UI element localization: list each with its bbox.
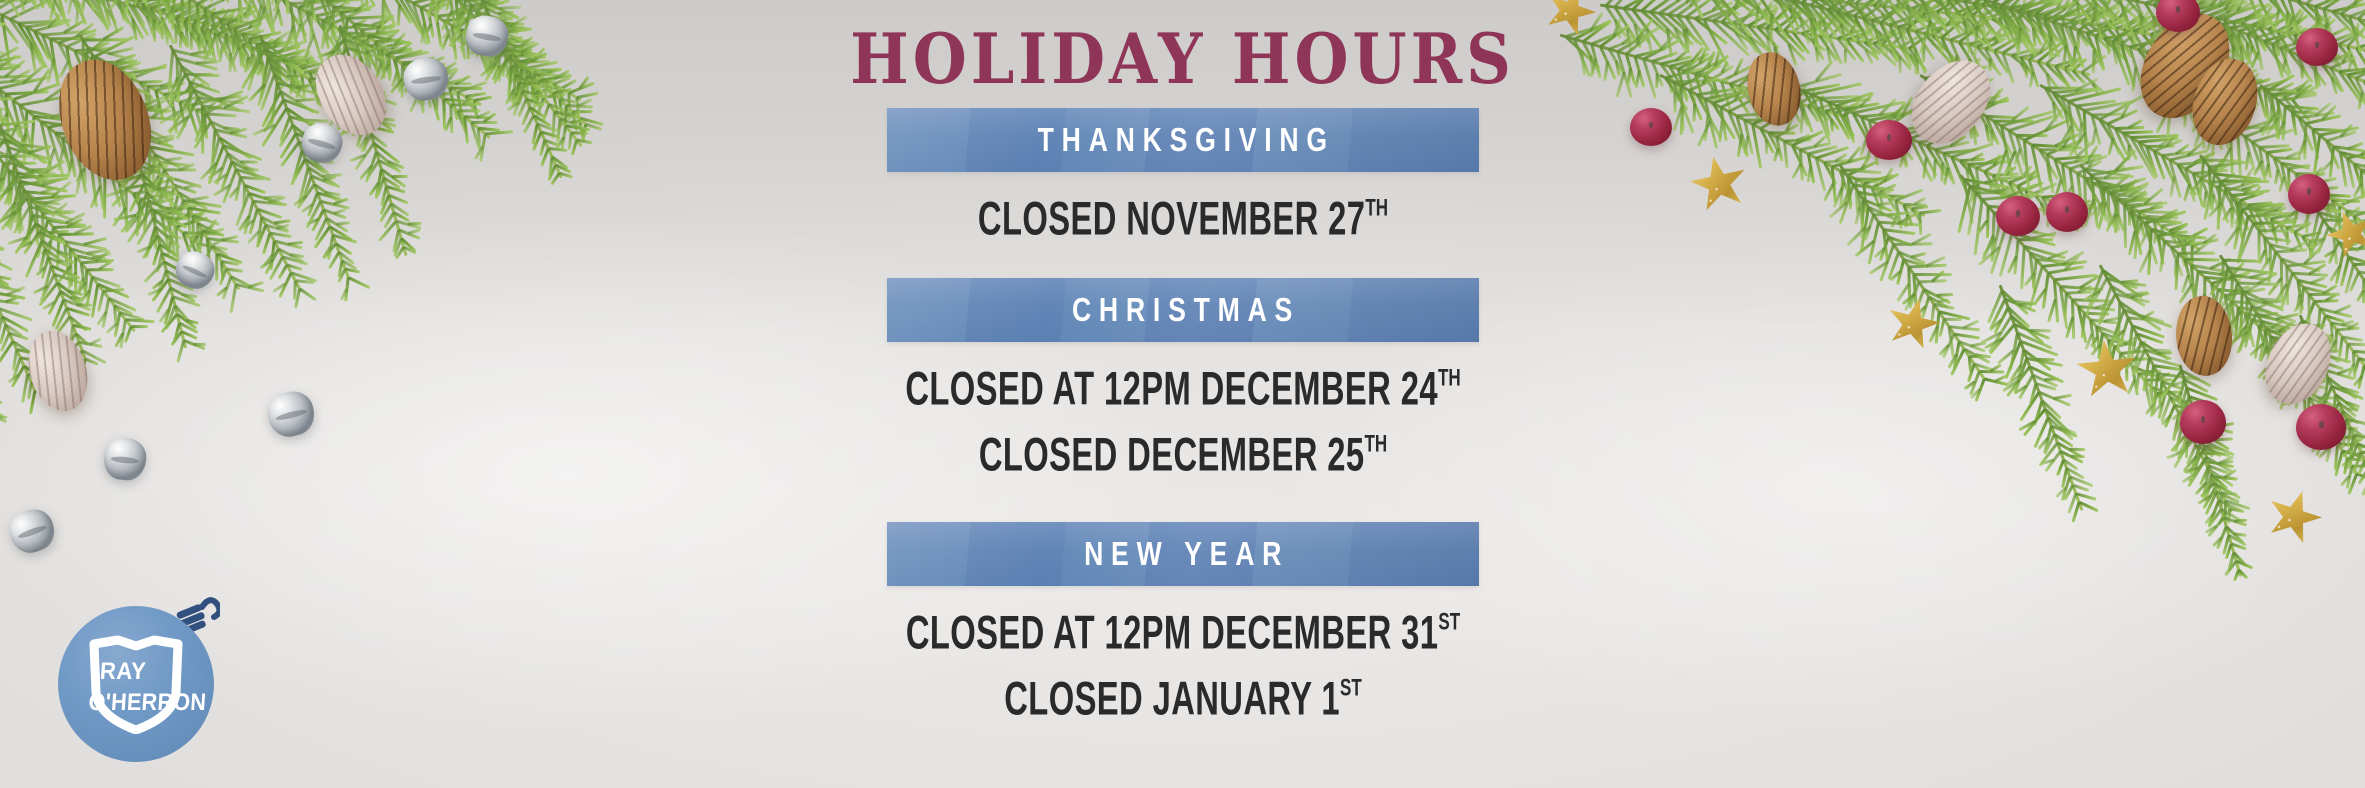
band-label-thanksgiving: THANKSGIVING [1030,121,1335,160]
section-new-year: NEW YEAR CLOSED AT 12PM DECEMBER 31ST CL… [803,476,1563,720]
berry-icon [2296,404,2346,450]
hours-line: CLOSED AT 12PM DECEMBER 31ST [886,610,1479,657]
ray-oherron-logo[interactable]: RAY O'HERRON [58,598,222,762]
band-label-christmas: CHRISTMAS [1065,291,1301,330]
ordinal-suffix: TH [1364,429,1387,457]
holiday-hours-content: HOLIDAY HOURS THANKSGIVING CLOSED NOVEMB… [803,0,1563,720]
hours-line: CLOSED JANUARY 1ST [886,676,1479,723]
berry-icon [2046,192,2088,232]
berry-icon [1866,120,1912,160]
berry-icon [1630,108,1672,146]
band-thanksgiving: THANKSGIVING [887,108,1479,172]
hours-line-text: CLOSED AT 12PM DECEMBER 24 [905,362,1438,415]
band-christmas: CHRISTMAS [887,278,1479,342]
page-title: HOLIDAY HOURS [803,0,1563,94]
shield-icon [84,634,188,734]
holiday-hours-banner: HOLIDAY HOURS THANKSGIVING CLOSED NOVEMB… [0,0,2365,788]
hours-line-text: CLOSED AT 12PM DECEMBER 31 [905,606,1438,659]
hours-line: CLOSED NOVEMBER 27TH [886,195,1479,242]
section-thanksgiving: THANKSGIVING CLOSED NOVEMBER 27TH [803,84,1563,240]
hours-line: CLOSED DECEMBER 25TH [886,432,1479,479]
ordinal-suffix: TH [1437,363,1460,391]
band-label-new-year: NEW YEAR [1076,535,1289,574]
section-christmas: CHRISTMAS CLOSED AT 12PM DECEMBER 24TH C… [803,240,1563,476]
berry-icon [2288,174,2330,214]
ordinal-suffix: ST [1339,673,1361,701]
band-new-year: NEW YEAR [887,522,1479,586]
hours-line-text: CLOSED JANUARY 1 [1004,672,1340,725]
hours-line-text: CLOSED NOVEMBER 27 [977,192,1364,245]
berry-icon [2180,400,2226,444]
hours-line-text: CLOSED DECEMBER 25 [978,428,1364,481]
ordinal-suffix: ST [1438,607,1460,635]
berry-icon [1996,196,2040,236]
berry-icon [2296,28,2338,66]
ordinal-suffix: TH [1365,193,1388,221]
hours-line: CLOSED AT 12PM DECEMBER 24TH [886,366,1479,413]
